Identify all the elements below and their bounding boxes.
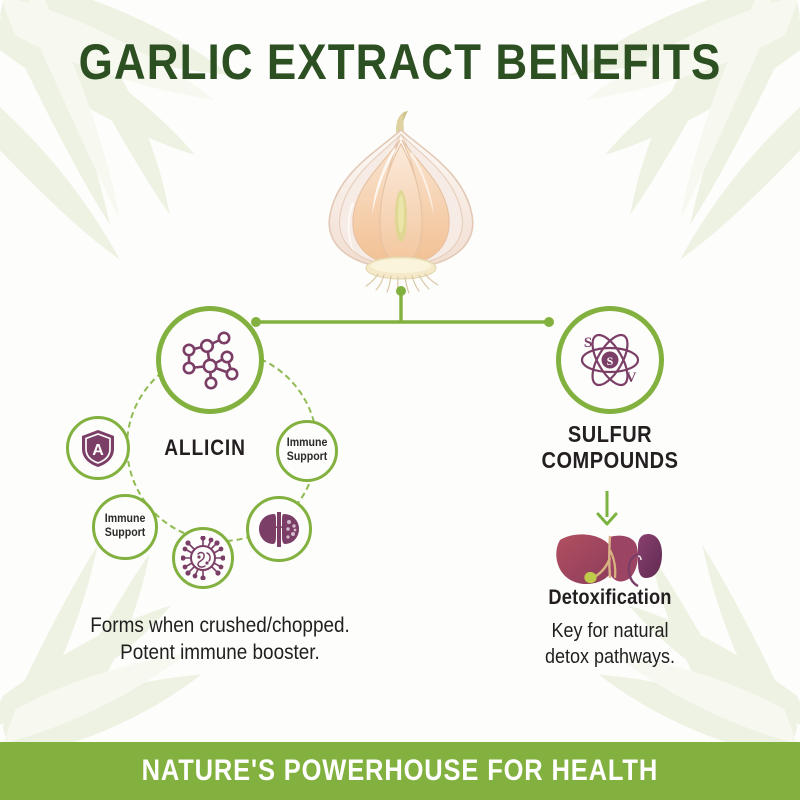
atom-letter-v: V [626, 370, 637, 386]
connector-dot-left [251, 317, 261, 327]
sulfur-title: SULFUR COMPOUNDS [532, 422, 689, 474]
garlic-bulb-illustration [316, 110, 486, 295]
connector-dot-right [544, 317, 554, 327]
satellite-kidneys[interactable] [246, 496, 312, 562]
kidneys-icon [257, 509, 301, 549]
shield-a-icon: A [80, 428, 116, 468]
satellite-shield-a[interactable]: A [66, 416, 130, 480]
satellite-immune-support-left[interactable]: Immune Support [92, 494, 158, 560]
molecule-icon [174, 324, 246, 396]
bottom-banner: NATURE'S POWERHOUSE FOR HEALTH [0, 742, 800, 800]
allicin-description: Forms when crushed/chopped. Potent immun… [58, 613, 382, 667]
virus-microbe-icon [181, 536, 225, 580]
atom-letter-s: S [584, 335, 592, 351]
sulfur-description: Key for natural detox pathways. [529, 619, 691, 670]
infographic-poster: GARLIC EXTRACT BENEFITS [0, 0, 800, 800]
detoxification-title: Detoxification [532, 586, 689, 610]
atom-center-letter: S [607, 354, 614, 368]
satellite-virus[interactable] [172, 527, 234, 589]
liver-kidney-icon [552, 528, 662, 590]
satellite-label: Immune Support [287, 437, 328, 464]
arrow-down-icon [594, 490, 620, 526]
atom-sulfur-icon: S S V [573, 323, 647, 397]
allicin-title: ALLICIN [127, 435, 284, 461]
sulfur-main-node[interactable]: S S V [556, 306, 664, 414]
satellite-label: Immune Support [105, 513, 146, 540]
satellite-immune-support-right[interactable]: Immune Support [276, 420, 338, 482]
svg-text:A: A [92, 442, 104, 459]
banner-text: NATURE'S POWERHOUSE FOR HEALTH [142, 754, 659, 788]
allicin-main-node[interactable] [156, 306, 264, 414]
page-title: GARLIC EXTRACT BENEFITS [48, 33, 752, 91]
